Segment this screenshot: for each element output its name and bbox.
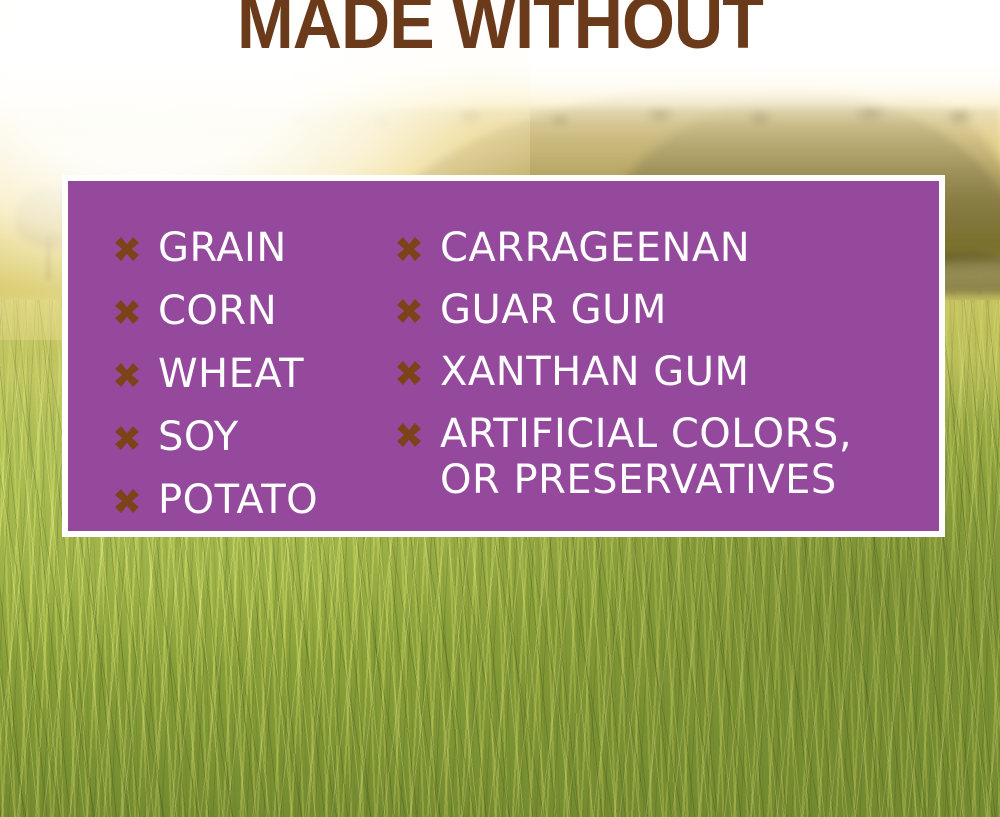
list-item: XANTHAN GUM: [394, 349, 939, 401]
x-mark-icon: [112, 297, 142, 327]
list-item: POTATO: [112, 477, 394, 529]
list-item-label: GRAIN: [158, 225, 287, 271]
list-item: CARRAGEENAN: [394, 225, 939, 277]
list-item: WHEAT: [112, 351, 394, 403]
ingredient-column-left: GRAIN CORN WHEAT: [112, 225, 394, 540]
list-item-label: POTATO: [158, 477, 318, 523]
list-item-label: SOY: [158, 414, 239, 460]
list-item: GUAR GUM: [394, 287, 939, 339]
x-mark-icon: [394, 234, 424, 264]
x-mark-icon: [394, 420, 424, 450]
x-mark-icon: [112, 486, 142, 516]
x-mark-icon: [112, 423, 142, 453]
list-item-label: CORN: [158, 288, 277, 334]
made-without-panel: GRAIN CORN WHEAT: [62, 175, 945, 537]
promo-graphic: MADE WITHOUT GRAIN CORN: [0, 0, 1000, 817]
list-item: CORN: [112, 288, 394, 340]
x-mark-icon: [112, 234, 142, 264]
page-title: MADE WITHOUT: [40, 0, 960, 60]
list-item-label: CARRAGEENAN: [440, 225, 750, 271]
x-mark-icon: [394, 296, 424, 326]
list-item: GRAIN: [112, 225, 394, 277]
x-mark-icon: [112, 360, 142, 390]
list-item-label: WHEAT: [158, 351, 304, 397]
list-item-label: ARTIFICIAL COLORS, OR PRESERVATIVES: [440, 411, 852, 503]
list-item-label: XANTHAN GUM: [440, 349, 749, 395]
list-item: ARTIFICIAL COLORS, OR PRESERVATIVES: [394, 411, 939, 503]
ingredient-column-right: CARRAGEENAN GUAR GUM XANTHAN GUM: [394, 225, 939, 513]
list-item-label: GUAR GUM: [440, 287, 667, 333]
x-mark-icon: [394, 358, 424, 388]
list-item: SOY: [112, 414, 394, 466]
